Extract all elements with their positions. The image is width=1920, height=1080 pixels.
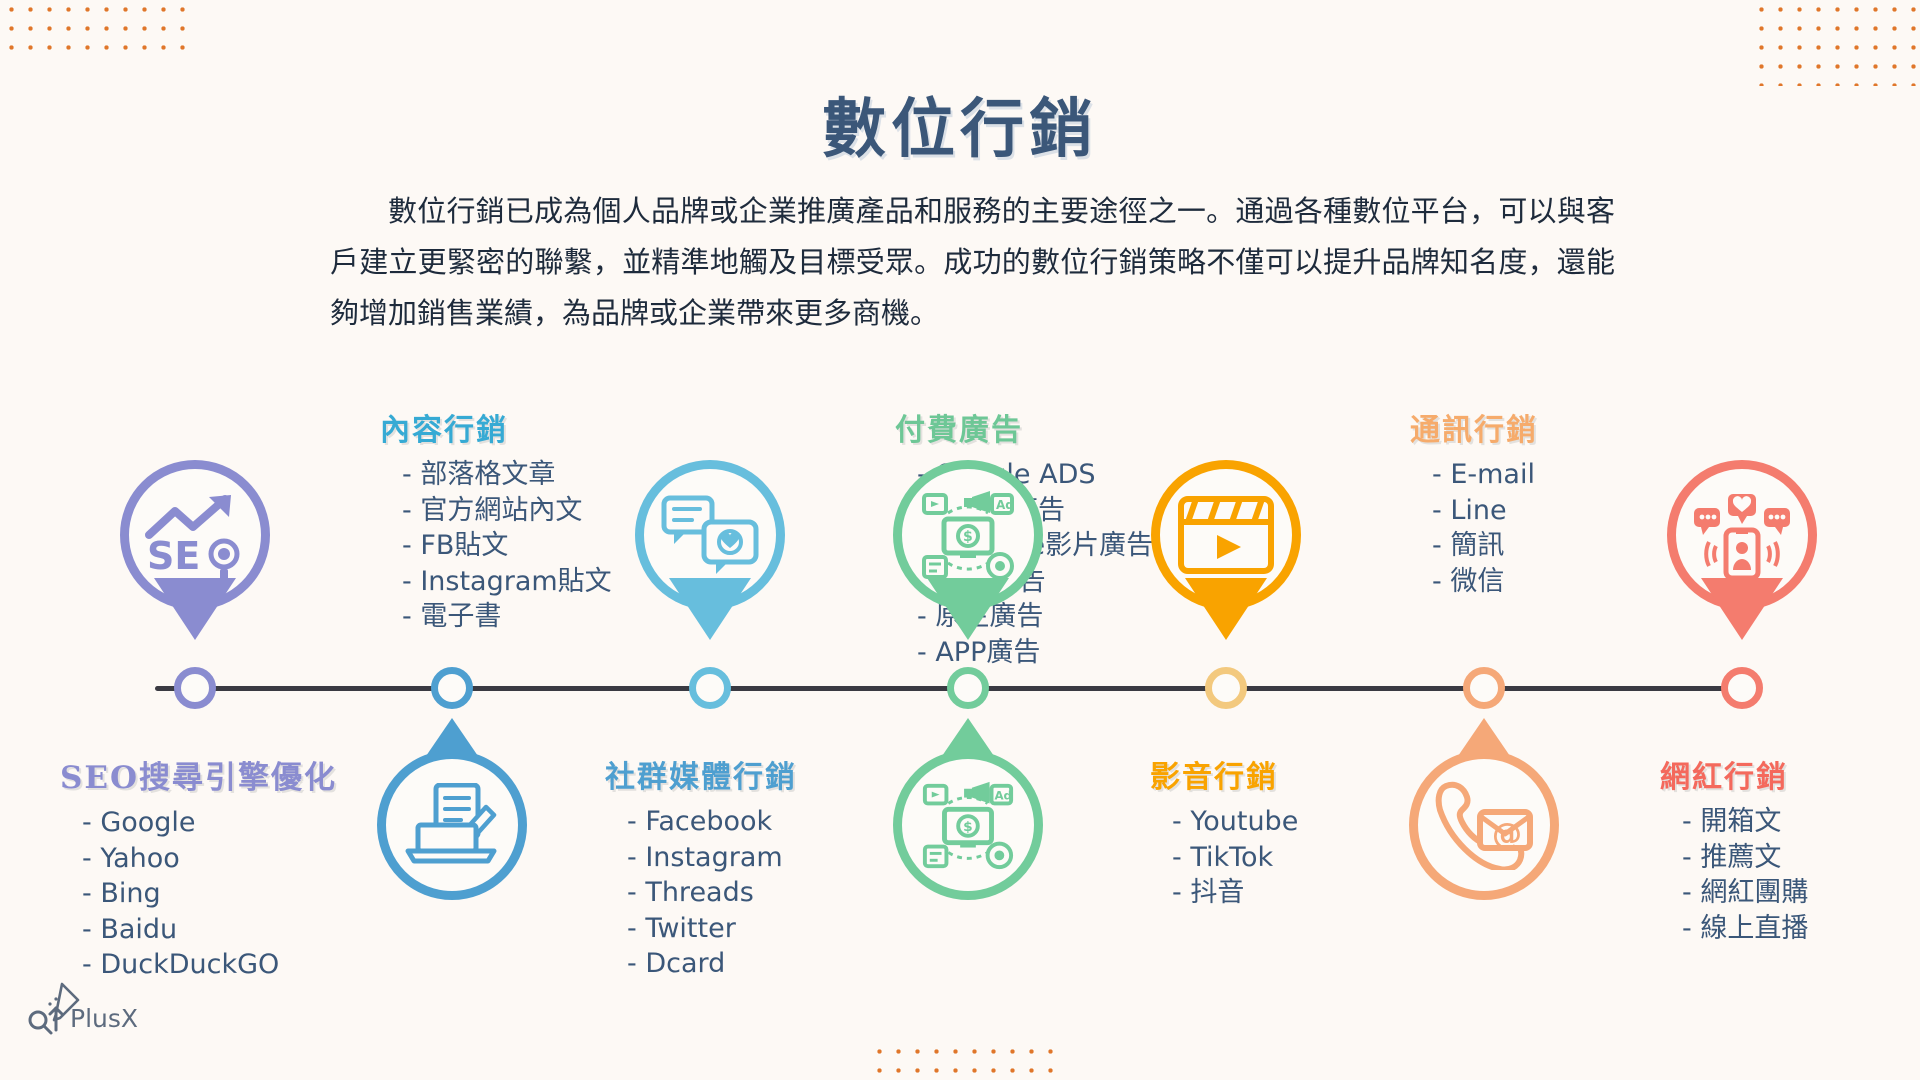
channel-heading: 付費廣告 — [895, 405, 1153, 449]
page-title: 數位行銷 — [0, 78, 1920, 170]
channel-content-text: 內容行銷 - 部落格文章 - 官方網站內文 - FB貼文 - Instagram… — [380, 405, 612, 635]
svg-text:Ad: Ad — [994, 789, 1012, 803]
timeline-node-influencer[interactable] — [1721, 667, 1763, 709]
megaphone-monitor-ads-icon: Ad $ — [893, 750, 1043, 900]
channel-social-text: 社群媒體行銷 - Facebook - Instagram - Threads … — [605, 752, 797, 982]
brand-wordmark: PlusX — [70, 1004, 138, 1033]
channel-item-list: - 開箱文 - 推薦文 - 網紅團購 - 線上直播 — [1660, 804, 1808, 946]
svg-text:$: $ — [963, 819, 973, 835]
list-item: - Instagram貼文 — [380, 564, 612, 600]
list-item: - DuckDuckGO — [60, 947, 337, 983]
svg-text:$: $ — [963, 529, 973, 545]
channel-seo-text: SEO搜尋引擎優化 - Google - Yahoo - Bing - Baid… — [60, 752, 337, 983]
laptop-document-pen-icon — [377, 750, 527, 900]
list-item: - Youtube — [1150, 804, 1298, 840]
channel-item-list: - Facebook - Instagram - Threads - Twitt… — [605, 804, 797, 982]
marker-social[interactable] — [377, 718, 527, 900]
seo-growth-search-icon: SE — [120, 460, 270, 610]
channel-item-list: - E-mail - Line - 簡訊 - 微信 — [1410, 457, 1538, 599]
channel-influencer-text: 網紅行銷 - 開箱文 - 推薦文 - 網紅團購 - 線上直播 — [1660, 752, 1808, 946]
brand-logo[interactable]: PlusX — [26, 980, 146, 1042]
channel-item-list: - Youtube - TikTok - 抖音 — [1150, 804, 1298, 911]
marker-influencer[interactable] — [1667, 460, 1817, 638]
channel-heading: SEO搜尋引擎優化 — [60, 752, 337, 797]
list-item: - Bing — [60, 876, 337, 912]
list-item: - 網紅團購 — [1660, 875, 1808, 911]
channel-heading: 社群媒體行銷 — [605, 752, 797, 796]
video-player-play-icon — [1151, 460, 1301, 610]
marker-seo[interactable]: SE — [120, 460, 270, 638]
megaphone-monitor-ads-icon: Ad $ — [893, 460, 1043, 610]
channel-heading: 影音行銷 — [1150, 752, 1298, 796]
marker-video[interactable] — [1151, 460, 1301, 638]
dot-pattern-top-left — [0, 0, 190, 64]
list-item: - Line — [1410, 493, 1538, 529]
list-item: - Threads — [605, 875, 797, 911]
marker-paid-ads[interactable]: Ad $ — [893, 460, 1043, 638]
list-item: - Dcard — [605, 946, 797, 982]
svg-text:@: @ — [1492, 817, 1522, 852]
list-item: - Twitter — [605, 911, 797, 947]
channel-item-list: - 部落格文章 - 官方網站內文 - FB貼文 - Instagram貼文 - … — [380, 457, 612, 635]
channel-video-text: 影音行銷 - Youtube - TikTok - 抖音 — [1150, 752, 1298, 911]
svg-text:Ad: Ad — [996, 498, 1014, 512]
svg-text:SE: SE — [147, 534, 200, 578]
marker-paid-ads-circle[interactable]: Ad $ — [893, 718, 1043, 900]
list-item: - 微信 — [1410, 564, 1538, 600]
timeline-node-paid-ads[interactable] — [947, 667, 989, 709]
content-chat-bubbles-icon — [635, 460, 785, 610]
list-item: - 官方網站內文 — [380, 493, 612, 529]
phone-social-heart-icon — [1667, 460, 1817, 610]
list-item: - Yahoo — [60, 841, 337, 877]
list-item: - 電子書 — [380, 599, 612, 635]
list-item: - Baidu — [60, 912, 337, 948]
marker-messaging[interactable]: @ — [1409, 718, 1559, 900]
channel-heading: 網紅行銷 — [1660, 752, 1808, 796]
list-item: - TikTok — [1150, 840, 1298, 876]
list-item: - FB貼文 — [380, 528, 612, 564]
timeline-node-content[interactable] — [431, 667, 473, 709]
timeline-node-social[interactable] — [689, 667, 731, 709]
intro-paragraph: 數位行銷已成為個人品牌或企業推廣產品和服務的主要途徑之一。通過各種數位平台，可以… — [330, 186, 1615, 339]
list-item: - E-mail — [1410, 457, 1538, 493]
channel-messaging-text: 通訊行銷 - E-mail - Line - 簡訊 - 微信 — [1410, 405, 1538, 599]
list-item: - 開箱文 — [1660, 804, 1808, 840]
list-item: - 抖音 — [1150, 875, 1298, 911]
channel-item-list: - Google - Yahoo - Bing - Baidu - DuckDu… — [60, 805, 337, 983]
channel-heading: 內容行銷 — [380, 405, 612, 449]
list-item: - 線上直播 — [1660, 911, 1808, 947]
list-item: - 部落格文章 — [380, 457, 612, 493]
dot-pattern-top-right — [1748, 0, 1920, 86]
list-item: - Google — [60, 805, 337, 841]
timeline-node-seo[interactable] — [174, 667, 216, 709]
timeline-node-video[interactable] — [1205, 667, 1247, 709]
list-item: - Instagram — [605, 840, 797, 876]
channel-heading: 通訊行銷 — [1410, 405, 1538, 449]
dot-pattern-bottom — [866, 1038, 1058, 1080]
list-item: - 簡訊 — [1410, 528, 1538, 564]
list-item: - 推薦文 — [1660, 840, 1808, 876]
list-item: - Facebook — [605, 804, 797, 840]
timeline-node-messaging[interactable] — [1463, 667, 1505, 709]
phone-envelope-at-icon: @ — [1409, 750, 1559, 900]
marker-content[interactable] — [635, 460, 785, 638]
